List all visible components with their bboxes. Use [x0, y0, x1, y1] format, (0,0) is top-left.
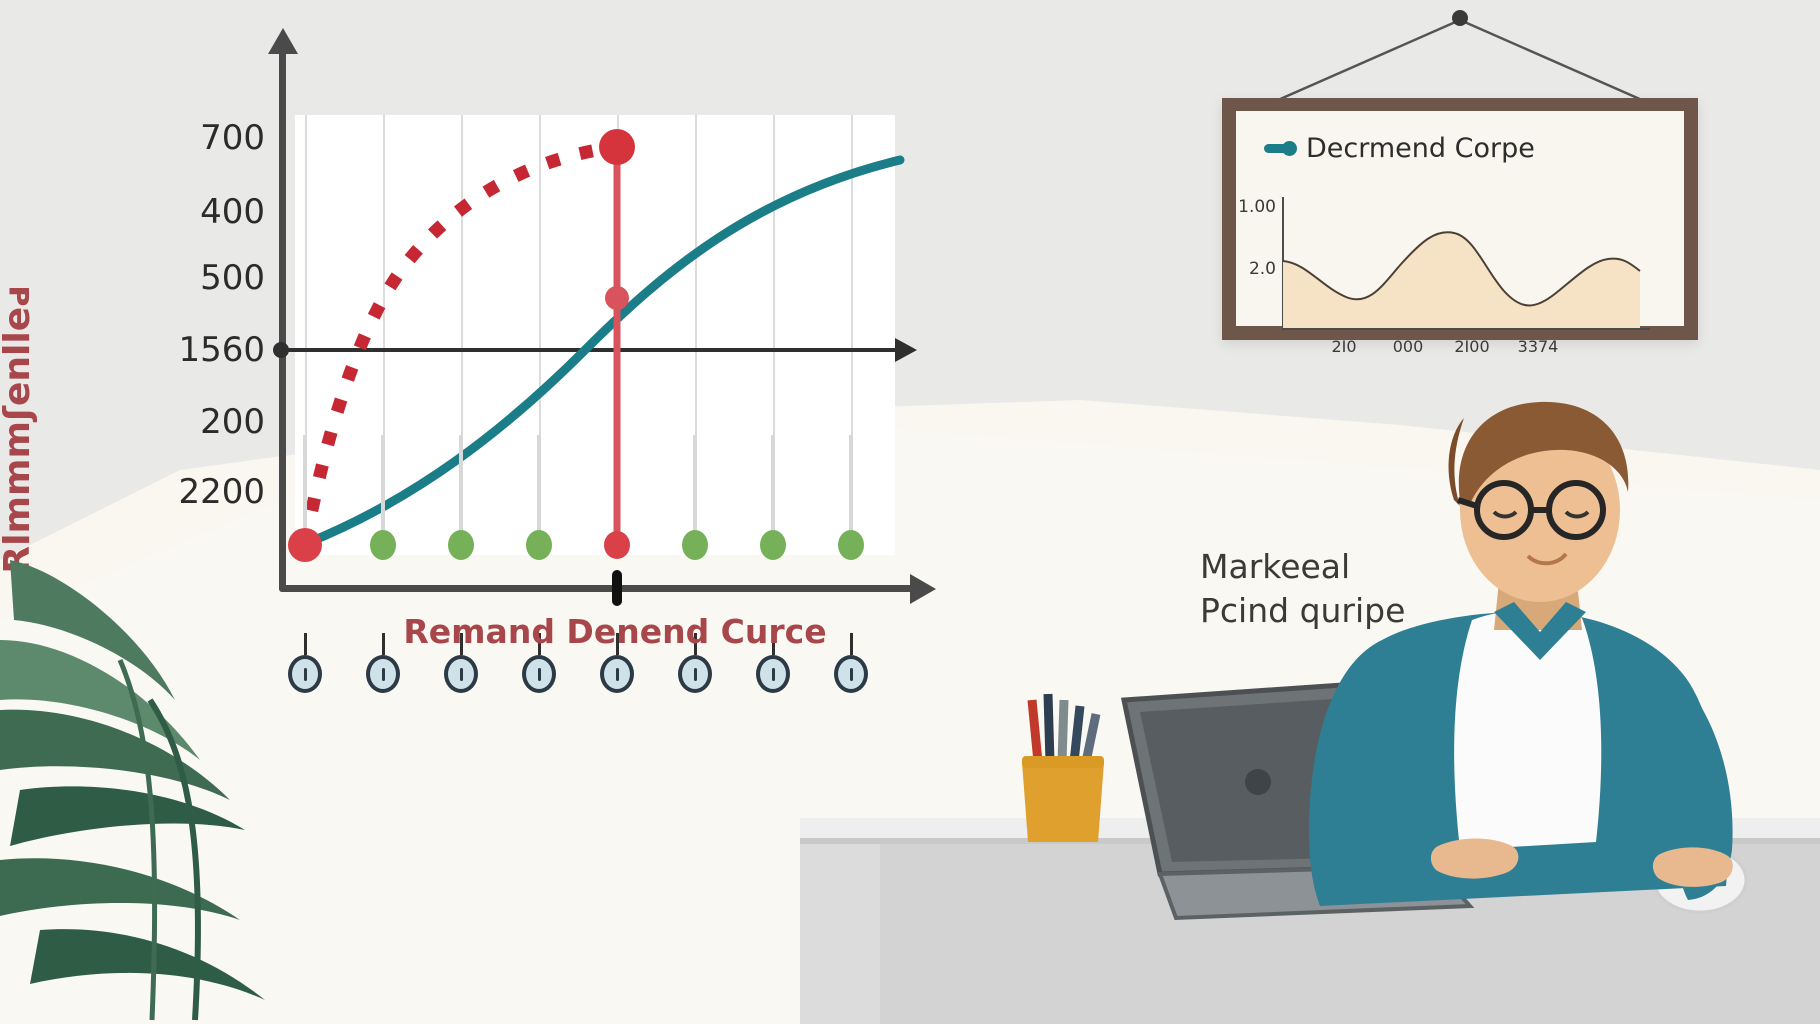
pen-cup [1022, 694, 1104, 842]
illustration-scene: 700 400 500 1560 200 2200 Rlmmmʃenlleԁ [0, 0, 1820, 1024]
analyst-at-laptop [1309, 402, 1733, 906]
potted-plant [0, 560, 265, 1020]
scene-objects [0, 0, 1820, 1024]
